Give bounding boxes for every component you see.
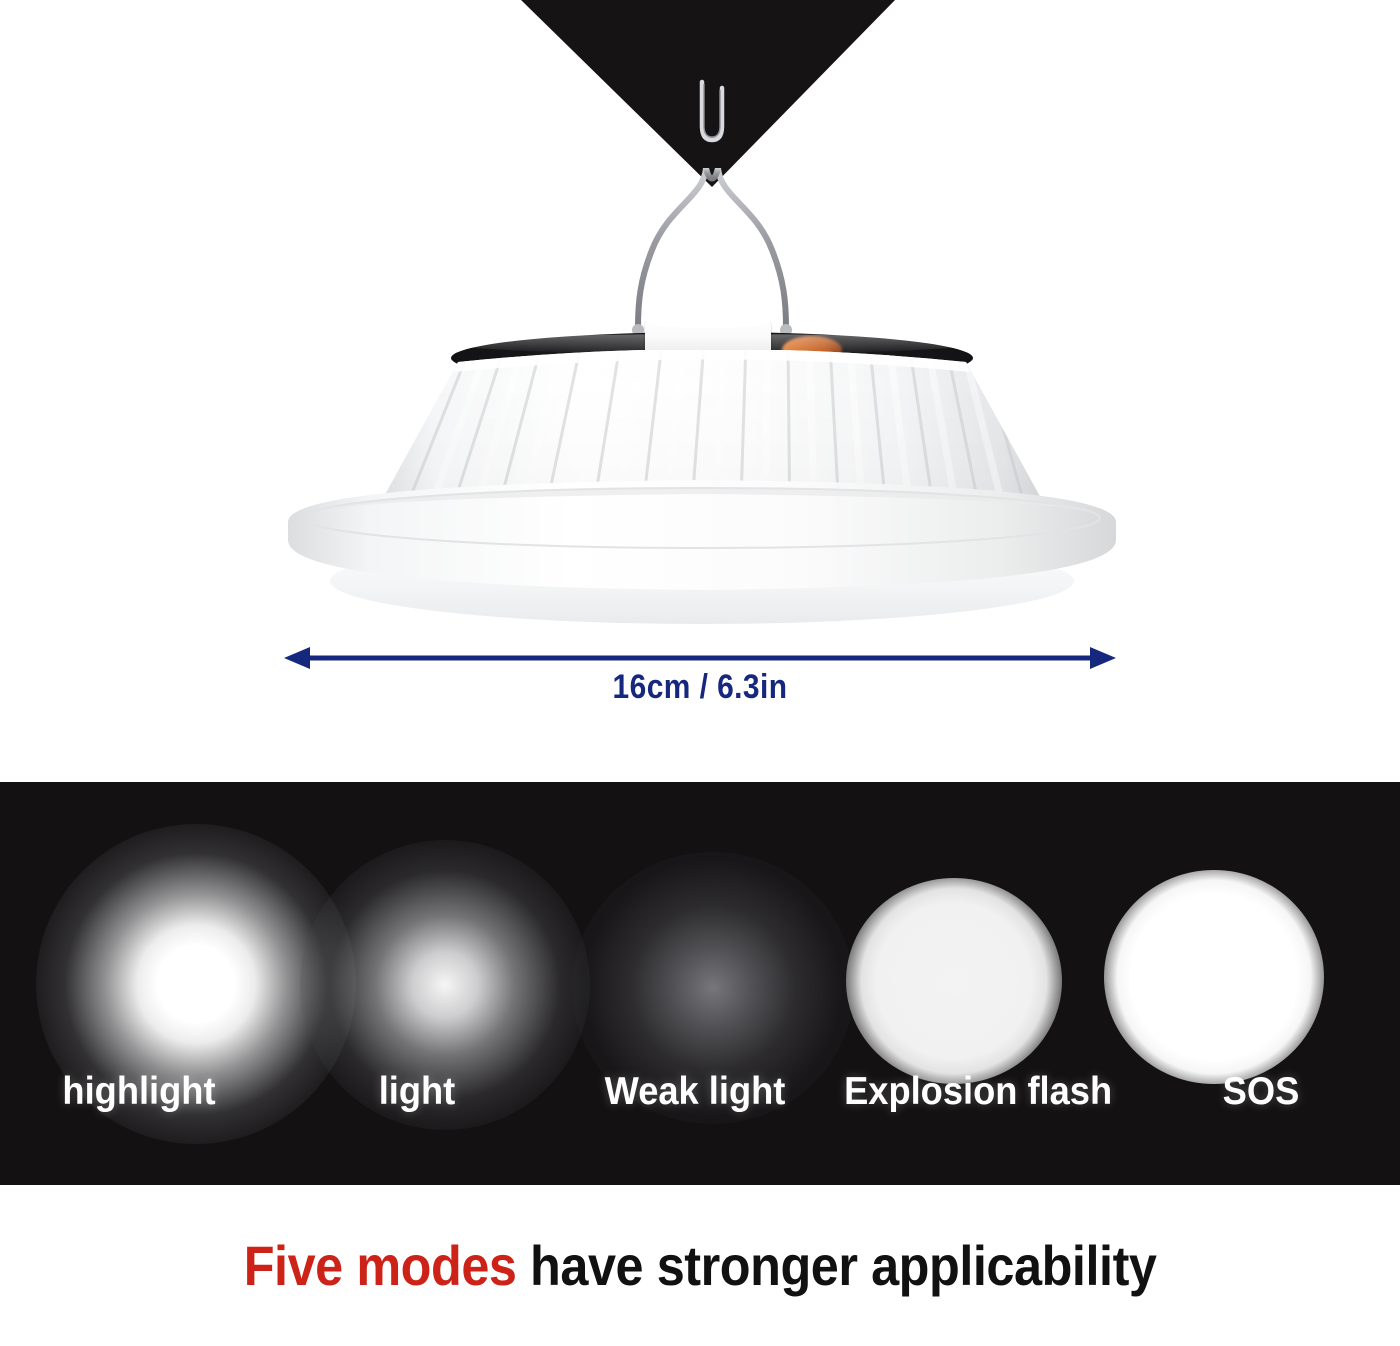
lamp-base-rim <box>282 478 1122 602</box>
lamp-hub-top <box>645 312 771 328</box>
mode-label-weak-light: Weak light <box>566 1060 824 1124</box>
dimension-label: 16cm / 6.3in <box>84 668 1316 707</box>
caption-accent-text: Five modes <box>244 1234 517 1297</box>
light-modes-panel: highlight light Weak light Explosion fla… <box>0 782 1400 1185</box>
product-infographic: 16cm / 6.3in highlight light Weak light … <box>0 0 1400 1346</box>
mode-label-row: highlight light Weak light Explosion fla… <box>0 1060 1400 1124</box>
mode-label-explosion-flash: Explosion flash <box>844 1060 1112 1124</box>
caption-rest-text: have stronger applicability <box>516 1234 1156 1297</box>
mode-label-sos: SOS <box>1132 1060 1390 1124</box>
s-hook-icon <box>686 78 738 148</box>
product-photo-panel: 16cm / 6.3in <box>0 0 1400 782</box>
glow-explosion-flash <box>846 878 1062 1084</box>
mode-label-highlight: highlight <box>10 1060 268 1124</box>
caption-text: Five modes have stronger applicability <box>244 1233 1157 1298</box>
glow-sos <box>1104 870 1324 1084</box>
mode-label-light: light <box>288 1060 546 1124</box>
caption-bar: Five modes have stronger applicability <box>0 1185 1400 1346</box>
